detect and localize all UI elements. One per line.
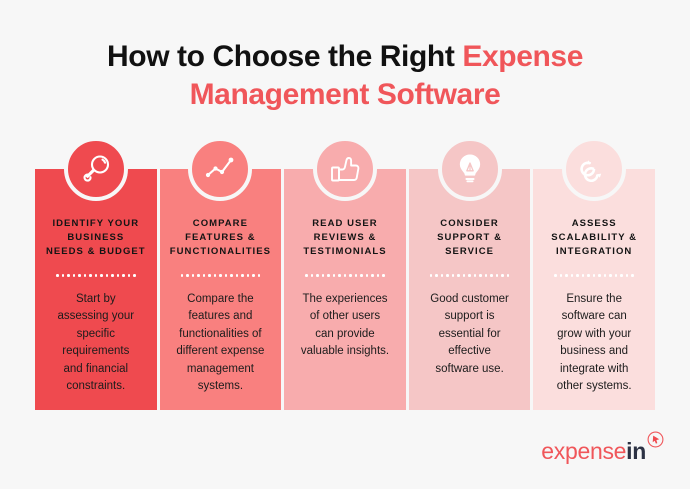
title-line-2: Management Software xyxy=(40,76,650,114)
line-chart-icon xyxy=(188,137,252,201)
dotted-divider xyxy=(56,274,136,277)
title-line-1: How to Choose the Right Expense xyxy=(40,38,650,76)
step-body-text: Compare the features and functionalities… xyxy=(176,291,264,396)
step-heading: READ USER REVIEWS & TESTIMONIALS xyxy=(303,217,386,258)
infographic-canvas: How to Choose the Right Expense Manageme… xyxy=(0,0,690,489)
step-card-consider-support[interactable]: CONSIDER SUPPORT & SERVICE Good customer… xyxy=(409,169,531,410)
dotted-divider xyxy=(430,274,510,277)
title-plain-text: How to Choose the Right xyxy=(107,40,462,73)
step-heading: ASSESS SCALABILITY & INTEGRATION xyxy=(551,217,637,258)
step-body-text: The experiences of other users can provi… xyxy=(301,291,389,361)
logo-text-in: in xyxy=(626,440,646,463)
infinity-loop-icon xyxy=(562,137,626,201)
steps-container: IDENTIFY YOUR BUSINESS NEEDS & BUDGET St… xyxy=(35,169,655,410)
step-heading: CONSIDER SUPPORT & SERVICE xyxy=(437,217,502,258)
magnifier-icon xyxy=(64,137,128,201)
cursor-badge-icon xyxy=(647,431,664,453)
page-title: How to Choose the Right Expense Manageme… xyxy=(0,38,690,115)
dotted-divider xyxy=(181,274,261,277)
title-accent-word: Expense xyxy=(462,40,583,73)
step-card-compare-features[interactable]: COMPARE FEATURES & FUNCTIONALITIES Compa… xyxy=(160,169,282,410)
thumbs-up-icon xyxy=(313,137,377,201)
step-card-assess-scalability[interactable]: ASSESS SCALABILITY & INTEGRATION Ensure … xyxy=(533,169,655,410)
step-heading: COMPARE FEATURES & FUNCTIONALITIES xyxy=(170,217,271,258)
step-body-text: Start by assessing your specific require… xyxy=(57,291,134,396)
step-card-read-reviews[interactable]: READ USER REVIEWS & TESTIMONIALS The exp… xyxy=(284,169,406,410)
dotted-divider xyxy=(305,274,385,277)
step-body-text: Ensure the software can grow with your b… xyxy=(557,291,632,396)
dotted-divider xyxy=(554,274,634,277)
step-body-text: Good customer support is essential for e… xyxy=(430,291,509,378)
logo-text-expense: expense xyxy=(541,440,626,463)
step-heading: IDENTIFY YOUR BUSINESS NEEDS & BUDGET xyxy=(46,217,146,258)
expensein-logo[interactable]: expense in xyxy=(541,440,664,463)
step-card-identify-needs[interactable]: IDENTIFY YOUR BUSINESS NEEDS & BUDGET St… xyxy=(35,169,157,410)
lightbulb-icon xyxy=(438,137,502,201)
